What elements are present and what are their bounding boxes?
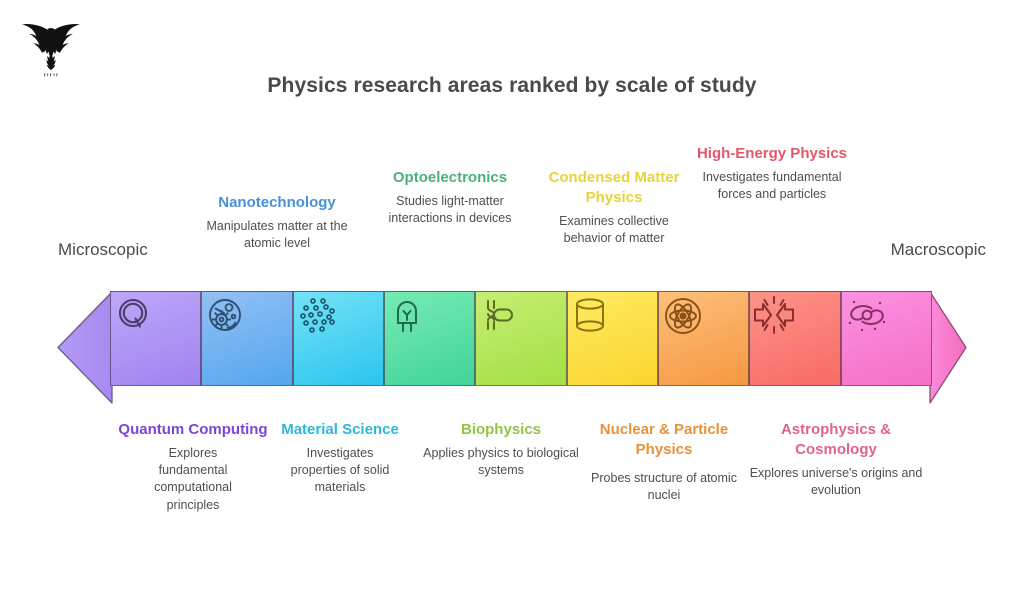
stage-tile-nanotechnology[interactable]	[201, 291, 292, 386]
stage-desc: Explores universe's origins and evolutio…	[748, 465, 924, 500]
stage-label-material-science: Material Science Investigates properties…	[262, 420, 418, 497]
stage-label-high-energy-physics: High-Energy Physics Investigates fundame…	[694, 144, 850, 203]
stage-desc: Examines collective behavior of matter	[536, 213, 692, 248]
scale-arrow-band	[0, 285, 1024, 410]
stage-name: Optoelectronics	[370, 168, 530, 188]
stage-tiles	[110, 291, 932, 386]
scale-label-macroscopic: Macroscopic	[891, 240, 986, 260]
page-title: Physics research areas ranked by scale o…	[0, 74, 1024, 98]
stage-label-nanotechnology: Nanotechnology Manipulates matter at the…	[191, 193, 363, 252]
stage-label-astrophysics-cosmology: Astrophysics & Cosmology Explores univer…	[748, 420, 924, 499]
stage-tile-material-science[interactable]	[293, 291, 384, 386]
stage-desc: Investigates properties of solid materia…	[280, 445, 400, 497]
stage-name: Condensed Matter Physics	[536, 168, 692, 208]
stage-label-quantum-computing: Quantum Computing Explores fundamental c…	[110, 420, 276, 514]
scale-label-microscopic: Microscopic	[58, 240, 148, 260]
arrowhead-left	[58, 292, 112, 403]
stage-name: Material Science	[262, 420, 418, 440]
stage-tile-condensed-matter-physics[interactable]	[567, 291, 658, 386]
stage-desc: Studies light-matter interactions in dev…	[370, 193, 530, 228]
stage-name: Biophysics	[422, 420, 580, 440]
stage-desc: Explores fundamental computational princ…	[138, 445, 248, 514]
stage-tile-quantum-computing[interactable]	[110, 291, 201, 386]
stage-desc: Applies physics to biological systems	[422, 445, 580, 480]
stage-label-biophysics: Biophysics Applies physics to biological…	[422, 420, 580, 479]
arrowhead-right	[930, 292, 966, 403]
stage-name: Nuclear & Particle Physics	[584, 420, 744, 460]
stage-label-optoelectronics: Optoelectronics Studies light-matter int…	[370, 168, 530, 227]
stage-tile-biophysics[interactable]	[475, 291, 566, 386]
stage-desc: Investigates fundamental forces and part…	[694, 169, 850, 204]
stage-tile-astrophysics-cosmology[interactable]	[841, 291, 932, 386]
stage-desc: Manipulates matter at the atomic level	[191, 218, 363, 253]
stage-tile-optoelectronics[interactable]	[384, 291, 475, 386]
stage-label-nuclear-particle-physics: Nuclear & Particle Physics Probes struct…	[584, 420, 744, 504]
stage-name: High-Energy Physics	[694, 144, 850, 164]
stage-tile-nuclear-particle-physics[interactable]	[658, 291, 749, 386]
stage-name: Astrophysics & Cosmology	[748, 420, 924, 460]
infographic-canvas: Physics research areas ranked by scale o…	[0, 0, 1024, 592]
stage-label-condensed-matter-physics: Condensed Matter Physics Examines collec…	[536, 168, 692, 247]
stage-desc: Probes structure of atomic nuclei	[584, 470, 744, 505]
stage-tile-high-energy-physics[interactable]	[749, 291, 840, 386]
eagle-logo	[20, 14, 82, 80]
stage-name: Nanotechnology	[191, 193, 363, 213]
stage-name: Quantum Computing	[110, 420, 276, 440]
